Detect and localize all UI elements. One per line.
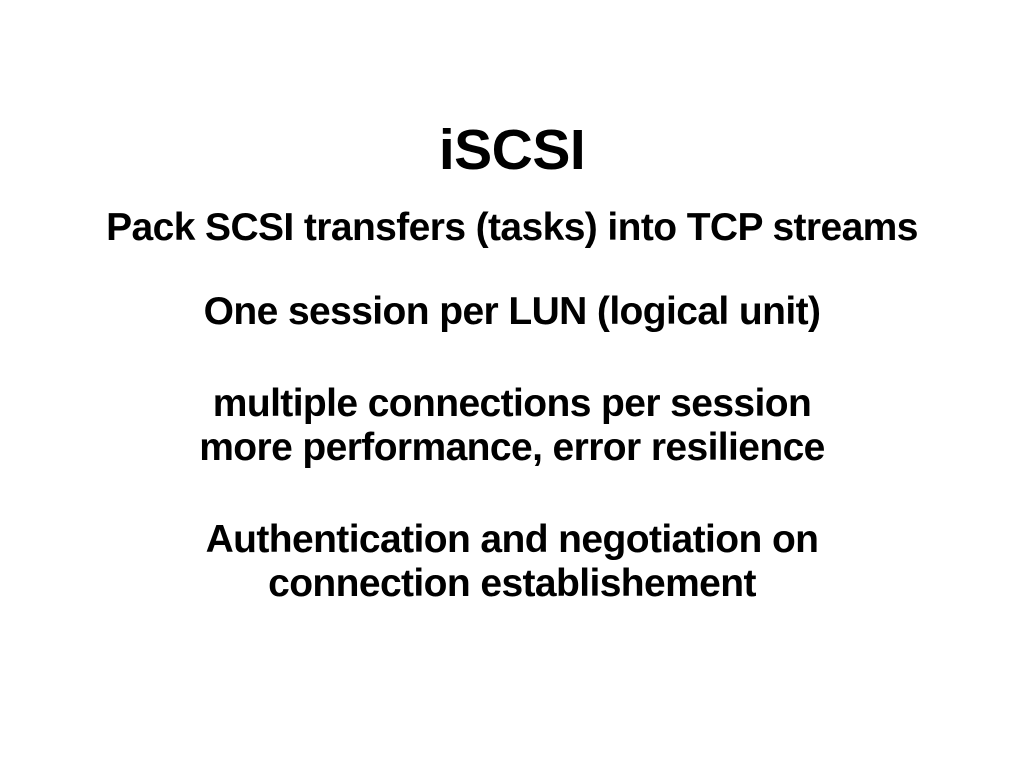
- bullet-line: Pack SCSI transfers (tasks) into TCP str…: [0, 206, 1024, 250]
- bullet-line: Authentication and negotiation on: [0, 518, 1024, 562]
- bullet-line: multiple connections per session: [0, 382, 1024, 426]
- bullet-line: connection establishement: [0, 562, 1024, 606]
- presentation-slide: iSCSI Pack SCSI transfers (tasks) into T…: [0, 0, 1024, 768]
- slide-body: Pack SCSI transfers (tasks) into TCP str…: [0, 206, 1024, 606]
- bullet-line: more performance, error resilience: [0, 426, 1024, 470]
- bullet-block-authentication-negotiation: Authentication and negotiation on connec…: [0, 518, 1024, 606]
- bullet-block-one-session-per-lun: One session per LUN (logical unit): [0, 290, 1024, 334]
- bullet-block-pack-scsi-transfers: Pack SCSI transfers (tasks) into TCP str…: [0, 206, 1024, 250]
- page-title: iSCSI: [0, 122, 1024, 179]
- bullet-block-multiple-connections: multiple connections per session more pe…: [0, 382, 1024, 470]
- bullet-line: One session per LUN (logical unit): [0, 290, 1024, 334]
